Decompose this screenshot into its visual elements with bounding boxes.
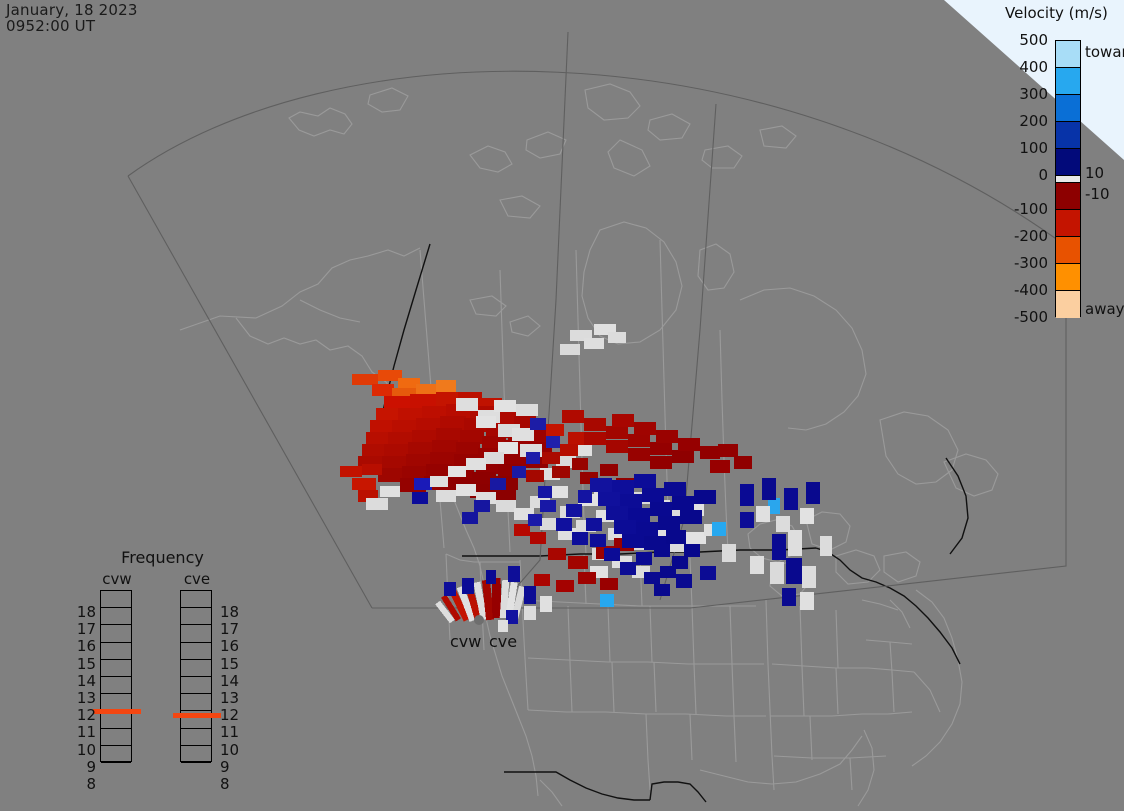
frequency-tick-cvw-10: 10 [74, 741, 96, 759]
velocity-band-7 [1056, 237, 1080, 264]
velocity-band-6 [1056, 210, 1080, 237]
frequency-tick-cve-12: 12 [220, 706, 239, 724]
frequency-column-cvw: cvw18171615141312111098 [100, 570, 134, 762]
frequency-cell [181, 608, 211, 625]
frequency-tick-cve-13: 13 [220, 689, 239, 707]
zero-upper-label: 10 [1085, 164, 1104, 182]
frequency-tick-cvw-8: 8 [74, 775, 96, 793]
frequency-column-cve: cve18171615141312111098 [180, 570, 214, 762]
frequency-cell [181, 591, 211, 608]
radar-site-label-cvw: cvw [450, 632, 481, 651]
velocity-colorbar [1055, 40, 1081, 317]
velocity-tick--300: -300 [988, 254, 1048, 272]
frequency-cell [101, 746, 131, 763]
frequency-cell [101, 643, 131, 660]
velocity-tick--500: -500 [988, 308, 1048, 326]
velocity-legend-title: Velocity (m/s) [1005, 4, 1108, 22]
velocity-band-zero [1056, 176, 1080, 183]
frequency-tick-cvw-11: 11 [74, 723, 96, 741]
zero-lower-label: -10 [1085, 185, 1110, 203]
frequency-column-label-cve: cve [180, 570, 214, 588]
frequency-tick-cvw-17: 17 [74, 620, 96, 638]
frequency-legend: Frequency cvw18171615141312111098cve1817… [80, 548, 245, 778]
frequency-tick-cve-18: 18 [220, 603, 239, 621]
toward-label: toward [1085, 43, 1124, 61]
frequency-tick-cvw-9: 9 [74, 758, 96, 776]
frequency-cell [101, 625, 131, 642]
velocity-band-2 [1056, 95, 1080, 122]
velocity-tick-500: 500 [988, 31, 1048, 49]
frequency-column-label-cvw: cvw [100, 570, 134, 588]
frequency-tick-cve-9: 9 [220, 758, 230, 776]
frequency-tick-cve-8: 8 [220, 775, 230, 793]
frequency-cell [101, 608, 131, 625]
velocity-band-5 [1056, 183, 1080, 210]
timestamp: January, 18 2023 0952:00 UT [6, 2, 138, 34]
frequency-cell [181, 729, 211, 746]
frequency-cell [181, 677, 211, 694]
frequency-marker-cvw [93, 709, 141, 714]
velocity-band-8 [1056, 264, 1080, 291]
frequency-tick-cvw-18: 18 [74, 603, 96, 621]
frequency-tick-cvw-12: 12 [74, 706, 96, 724]
radar-site-marker [474, 615, 484, 625]
velocity-band-4 [1056, 149, 1080, 176]
radar-site-label-cve: cve [489, 632, 517, 651]
frequency-cell [101, 729, 131, 746]
frequency-cell [181, 660, 211, 677]
timestamp-date: January, 18 2023 [6, 2, 138, 18]
velocity-legend: Velocity (m/s) 5004003002001000-100-200-… [1005, 2, 1124, 332]
frequency-tick-cve-14: 14 [220, 672, 239, 690]
frequency-cell [181, 625, 211, 642]
radar-map-canvas: January, 18 2023 0952:00 UT Velocity (m/… [0, 0, 1124, 811]
frequency-tick-cvw-15: 15 [74, 655, 96, 673]
velocity-tick-400: 400 [988, 58, 1048, 76]
timestamp-time: 0952:00 UT [6, 18, 138, 34]
frequency-cell [181, 694, 211, 711]
velocity-band-1 [1056, 68, 1080, 95]
frequency-marker-cve [173, 713, 221, 718]
velocity-tick--200: -200 [988, 227, 1048, 245]
frequency-tick-cve-17: 17 [220, 620, 239, 638]
velocity-band-9 [1056, 291, 1080, 318]
frequency-cell [101, 711, 131, 728]
velocity-tick--100: -100 [988, 200, 1048, 218]
frequency-cell [181, 746, 211, 763]
frequency-tick-cvw-14: 14 [74, 672, 96, 690]
frequency-tick-cve-15: 15 [220, 655, 239, 673]
velocity-tick-0: 0 [988, 166, 1048, 184]
frequency-cell [101, 677, 131, 694]
velocity-tick-300: 300 [988, 85, 1048, 103]
frequency-tick-cve-16: 16 [220, 637, 239, 655]
velocity-tick--400: -400 [988, 281, 1048, 299]
frequency-legend-title: Frequency [80, 548, 245, 567]
velocity-band-3 [1056, 122, 1080, 149]
frequency-tick-cve-11: 11 [220, 723, 239, 741]
frequency-bar-cve [180, 590, 212, 762]
frequency-cell [101, 591, 131, 608]
frequency-bar-cvw [100, 590, 132, 762]
frequency-tick-cvw-13: 13 [74, 689, 96, 707]
frequency-tick-cvw-16: 16 [74, 637, 96, 655]
frequency-tick-cve-10: 10 [220, 741, 239, 759]
velocity-band-0 [1056, 41, 1080, 68]
velocity-tick-200: 200 [988, 112, 1048, 130]
frequency-cell [101, 660, 131, 677]
frequency-cell [181, 643, 211, 660]
away-label: away [1085, 300, 1124, 318]
velocity-tick-100: 100 [988, 139, 1048, 157]
